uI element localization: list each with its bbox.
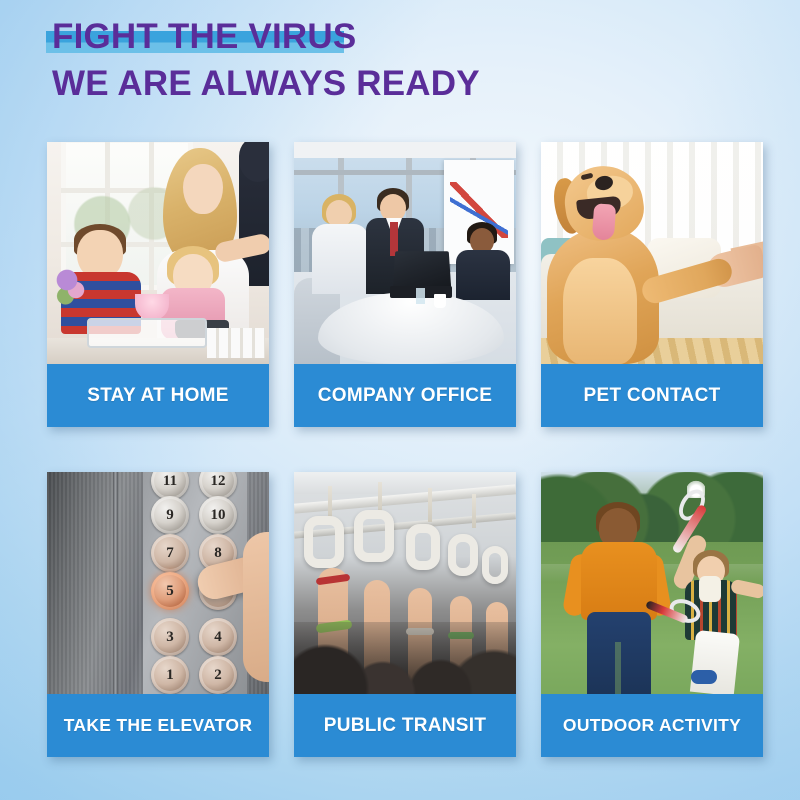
elevator-button-2[interactable]: 2: [199, 656, 237, 694]
card-label-text: COMPANY OFFICE: [318, 385, 493, 407]
headline-line-1: FIGHT THE VIRUS: [52, 18, 356, 56]
card-label-text: TAKE THE ELEVATOR: [64, 715, 253, 736]
card-company-office[interactable]: COMPANY OFFICE: [294, 142, 516, 427]
card-label-text: OUTDOOR ACTIVITY: [563, 715, 741, 736]
card-label-company-office: COMPANY OFFICE: [294, 364, 516, 427]
elevator-button-3[interactable]: 3: [151, 618, 189, 656]
elevator-button-10[interactable]: 10: [199, 496, 237, 534]
elevator-button-7[interactable]: 7: [151, 534, 189, 572]
transit-strap: [448, 534, 478, 576]
elevator-button-4[interactable]: 4: [199, 618, 237, 656]
photo-stay-at-home: [47, 142, 269, 364]
photo-outdoor-activity: [541, 472, 763, 694]
headline-primary-wrap: FIGHT THE VIRUS: [52, 18, 356, 56]
card-public-transit[interactable]: PUBLIC TRANSIT: [294, 472, 516, 757]
photo-take-the-elevator: 11 12 9 10 7 8 6 5 3 4 1 2: [47, 472, 269, 694]
transit-strap: [354, 510, 394, 562]
photo-public-transit: [294, 472, 516, 694]
card-label-outdoor-activity: OUTDOOR ACTIVITY: [541, 694, 763, 757]
photo-pet-contact: [541, 142, 763, 364]
card-take-the-elevator[interactable]: 11 12 9 10 7 8 6 5 3 4 1 2 TAKE THE ELEV…: [47, 472, 269, 757]
headline-line-2: WE ARE ALWAYS READY: [52, 65, 480, 103]
card-label-public-transit: PUBLIC TRANSIT: [294, 694, 516, 757]
elevator-button-5[interactable]: 5: [151, 572, 189, 610]
card-label-pet-contact: PET CONTACT: [541, 364, 763, 427]
card-pet-contact[interactable]: PET CONTACT: [541, 142, 763, 427]
card-label-text: STAY AT HOME: [87, 385, 229, 407]
transit-strap: [406, 524, 440, 570]
photo-company-office: [294, 142, 516, 364]
transit-strap: [482, 546, 508, 584]
transit-strap: [304, 516, 344, 568]
elevator-button-9[interactable]: 9: [151, 496, 189, 534]
card-grid: STAY AT HOME: [47, 142, 763, 757]
card-outdoor-activity[interactable]: OUTDOOR ACTIVITY: [541, 472, 763, 757]
elevator-button-1[interactable]: 1: [151, 656, 189, 694]
card-label-take-the-elevator: TAKE THE ELEVATOR: [47, 694, 269, 757]
poster-canvas: FIGHT THE VIRUS WE ARE ALWAYS READY: [0, 0, 800, 800]
card-label-text: PET CONTACT: [584, 385, 721, 407]
poster-header: FIGHT THE VIRUS WE ARE ALWAYS READY: [52, 18, 480, 103]
card-label-stay-at-home: STAY AT HOME: [47, 364, 269, 427]
card-label-text: PUBLIC TRANSIT: [324, 715, 487, 737]
card-stay-at-home[interactable]: STAY AT HOME: [47, 142, 269, 427]
